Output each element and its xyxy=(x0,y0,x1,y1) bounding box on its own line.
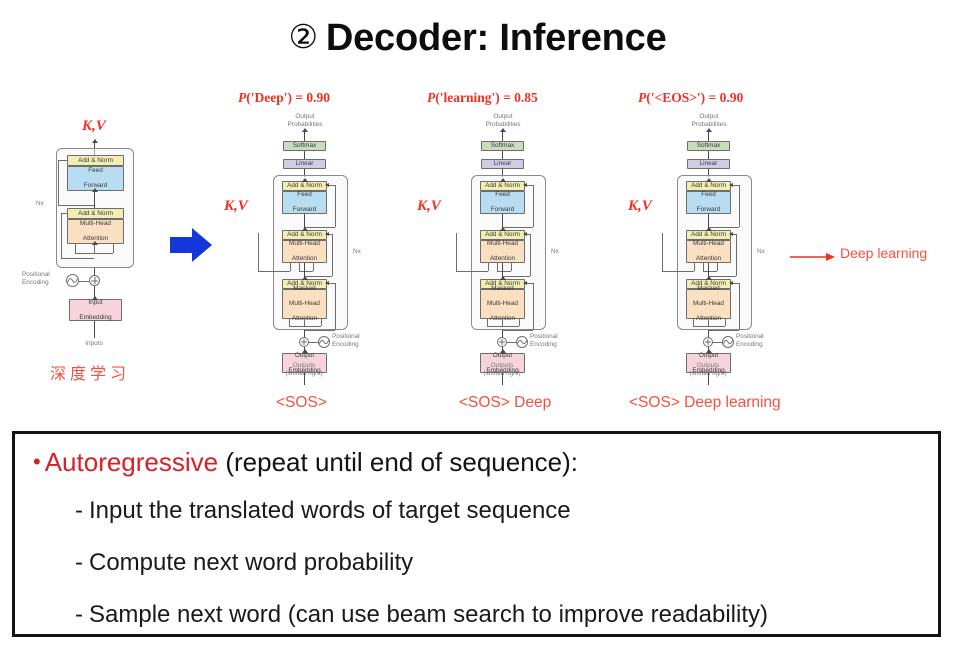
bullet-item-3-text: Sample next word (can use beam search to… xyxy=(89,601,768,628)
decoder-add-norm-2: Add & Norm xyxy=(480,230,525,240)
decoder-add-norm-2: Add & Norm xyxy=(282,230,327,240)
decoder-sine-icon xyxy=(516,336,528,348)
encoder-add-norm-1: Add & Norm xyxy=(67,208,124,219)
final-output-arrow-icon xyxy=(790,252,835,262)
decoder-diagram-1: OutputProbabilities Softmax Linear Nx Ad… xyxy=(263,113,383,383)
decoder-output-probabilities-label: OutputProbabilities xyxy=(271,113,339,128)
decoder-add-norm-3: Add & Norm xyxy=(480,181,525,191)
decoder-cross-attention-block: Multi-HeadAttention xyxy=(686,240,731,263)
page-title: ②Decoder: Inference xyxy=(0,14,955,61)
dash-icon: - xyxy=(75,497,83,524)
decoder-linear-block: Linear xyxy=(687,159,730,169)
title-text: Decoder: Inference xyxy=(326,17,667,59)
decoder-3-probability: P('<EOS>') = 0.90 xyxy=(638,90,743,106)
decoder-positional-add-icon xyxy=(299,337,309,347)
bullet-item-2-text: Compute next word probability xyxy=(89,549,413,576)
flow-arrow-icon xyxy=(170,228,212,262)
decoder-output-probabilities-label: OutputProbabilities xyxy=(675,113,743,128)
dash-icon: - xyxy=(75,601,83,628)
bullet-panel: •Autoregressive (repeat until end of seq… xyxy=(12,431,941,637)
encoder-kv-label: K,V xyxy=(82,118,106,135)
bullet-item-1: -Input the translated words of target se… xyxy=(75,496,571,526)
dash-icon: - xyxy=(75,549,83,576)
decoder-diagram-3: OutputProbabilities Softmax Linear Nx Ad… xyxy=(667,113,787,383)
decoder-sine-icon xyxy=(722,336,734,348)
decoder-positional-encoding-label: PositionalEncoding xyxy=(530,333,558,348)
decoder-3-outputs-label: Outputs(shifted right) xyxy=(676,362,740,377)
decoder-add-norm-2: Add & Norm xyxy=(686,230,731,240)
bullet-keyword: Autoregressive xyxy=(45,447,218,477)
bullet-heading: •Autoregressive (repeat until end of seq… xyxy=(33,446,578,478)
decoder-1-kv-label: K,V xyxy=(224,198,248,215)
decoder-diagram-2: OutputProbabilities Softmax Linear Nx Ad… xyxy=(461,113,581,383)
decoder-softmax-block: Softmax xyxy=(481,141,524,151)
final-output-text: Deep learning xyxy=(840,245,927,261)
bullet-heading-rest: (repeat until end of sequence): xyxy=(218,447,578,477)
decoder-cross-attention-block: Multi-HeadAttention xyxy=(480,240,525,263)
encoder-inputs-label: Inputs xyxy=(74,340,114,348)
decoder-add-norm-3: Add & Norm xyxy=(282,181,327,191)
decoder-feed-forward-block: FeedForward xyxy=(282,191,327,214)
decoder-3-kv-label: K,V xyxy=(628,198,652,215)
encoder-positional-encoding-label: PositionalEncoding xyxy=(22,271,50,286)
bullet-item-1-text: Input the translated words of target seq… xyxy=(89,497,571,524)
decoder-sine-icon xyxy=(318,336,330,348)
decoder-feed-forward-block: FeedForward xyxy=(686,191,731,214)
decoder-1-input-sequence: <SOS> xyxy=(276,394,327,412)
decoder-positional-add-icon xyxy=(703,337,713,347)
encoder-output-arrow-icon xyxy=(92,139,98,143)
encoder-sine-icon xyxy=(66,274,79,287)
decoder-feed-forward-block: FeedForward xyxy=(480,191,525,214)
bullet-item-3: -Sample next word (can use beam search t… xyxy=(75,600,768,630)
encoder-nx-label: Nx xyxy=(36,200,44,207)
decoder-2-probability: P('learning') = 0.85 xyxy=(427,90,538,106)
decoder-linear-block: Linear xyxy=(481,159,524,169)
slide-canvas: ②Decoder: Inference K,V Nx Add & Norm Fe… xyxy=(0,0,955,651)
decoder-positional-encoding-label: PositionalEncoding xyxy=(736,333,764,348)
decoder-masked-attention-block: MaskedMulti-HeadAttention xyxy=(480,289,525,319)
decoder-1-outputs-label: Outputs(shifted right) xyxy=(272,362,336,377)
encoder-diagram: K,V Nx Add & Norm FeedForward Add & Norm… xyxy=(28,120,168,385)
decoder-masked-attention-block: MaskedMulti-HeadAttention xyxy=(686,289,731,319)
title-number: ② xyxy=(288,18,317,55)
bullet-dot-icon: • xyxy=(33,449,41,474)
decoder-positional-encoding-label: PositionalEncoding xyxy=(332,333,360,348)
decoder-masked-attention-block: MaskedMulti-HeadAttention xyxy=(282,289,327,319)
decoder-softmax-block: Softmax xyxy=(283,141,326,151)
encoder-input-embedding: InputEmbedding xyxy=(69,299,122,321)
decoder-positional-add-icon xyxy=(497,337,507,347)
decoder-2-input-sequence: <SOS> Deep xyxy=(459,394,551,412)
decoder-3-input-sequence: <SOS> Deep learning xyxy=(629,394,781,412)
decoder-2-outputs-label: Outputs(shifted right) xyxy=(470,362,534,377)
decoder-add-norm-3: Add & Norm xyxy=(686,181,731,191)
decoder-1-probability: P('Deep') = 0.90 xyxy=(238,90,330,106)
decoder-softmax-block: Softmax xyxy=(687,141,730,151)
decoder-nx-label: Nx xyxy=(551,248,559,255)
decoder-nx-label: Nx xyxy=(353,248,361,255)
decoder-cross-attention-block: Multi-HeadAttention xyxy=(282,240,327,263)
decoder-2-kv-label: K,V xyxy=(417,198,441,215)
decoder-output-probabilities-label: OutputProbabilities xyxy=(469,113,537,128)
encoder-positional-add-icon xyxy=(89,275,100,286)
encoder-add-norm-2: Add & Norm xyxy=(67,155,124,166)
bullet-item-2: -Compute next word probability xyxy=(75,548,413,578)
decoder-nx-label: Nx xyxy=(757,248,765,255)
encoder-source-text: 深度学习 xyxy=(50,360,130,384)
decoder-linear-block: Linear xyxy=(283,159,326,169)
